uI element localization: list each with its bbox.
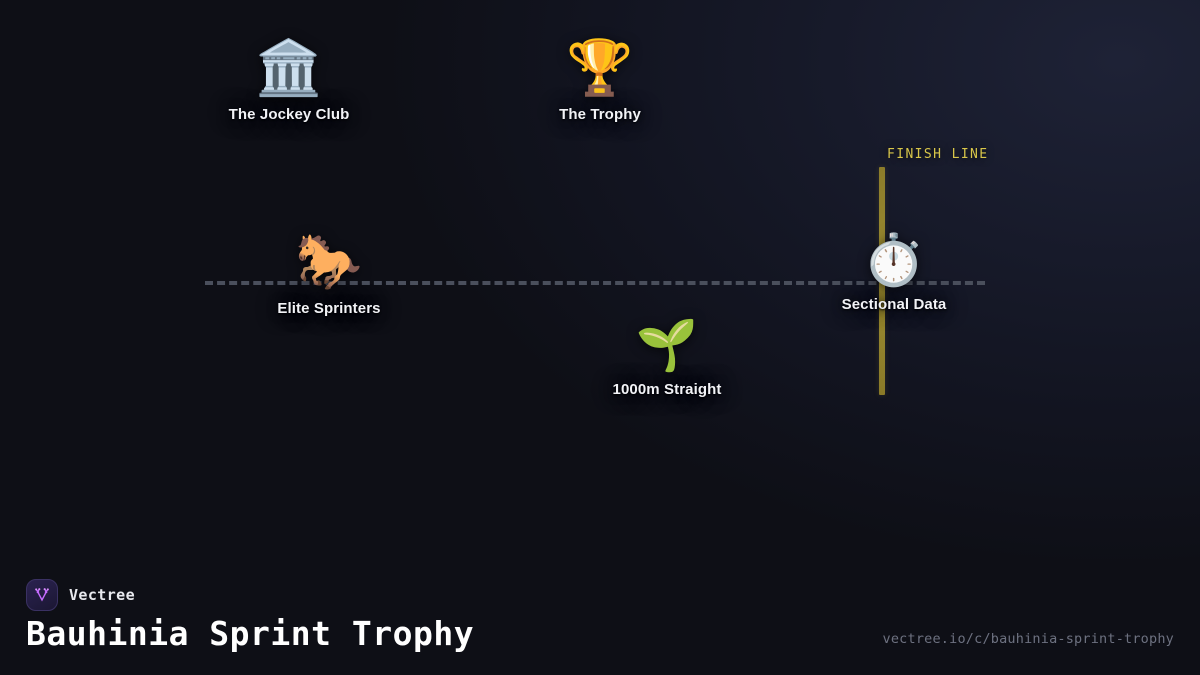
footer-bar: Vectree Bauhinia Sprint Trophy vectree.i… — [0, 563, 1200, 675]
classical-building-icon: 🏛️ — [255, 38, 322, 98]
node-the-jockey-club[interactable]: 🏛️The Jockey Club — [229, 38, 350, 123]
finish-line-label: FINISH LINE — [887, 147, 989, 162]
node-1000m-straight[interactable]: 🌱1000m Straight — [613, 317, 722, 398]
node-elite-sprinters[interactable]: 🐎Elite Sprinters — [277, 232, 380, 317]
seedling-icon: 🌱 — [636, 317, 698, 373]
brand-row[interactable]: Vectree — [26, 579, 135, 611]
trophy-icon: 🏆 — [566, 38, 633, 98]
page-title: Bauhinia Sprint Trophy — [26, 614, 474, 653]
node-label: The Jockey Club — [229, 106, 350, 123]
racehorse-icon: 🐎 — [295, 232, 362, 292]
vectree-logo-icon — [26, 579, 58, 611]
screenshot-root: FINISH LINE 🏛️The Jockey Club🏆The Trophy… — [0, 0, 1200, 675]
node-label: Sectional Data — [842, 296, 947, 313]
brand-name: Vectree — [69, 586, 135, 604]
node-label: The Trophy — [559, 106, 641, 123]
node-the-trophy[interactable]: 🏆The Trophy — [559, 38, 641, 123]
node-label: 1000m Straight — [613, 381, 722, 398]
node-label: Elite Sprinters — [277, 300, 380, 317]
stopwatch-icon: ⏱️ — [863, 232, 925, 288]
node-sectional-data[interactable]: ⏱️Sectional Data — [842, 232, 947, 313]
page-url: vectree.io/c/bauhinia-sprint-trophy — [883, 631, 1174, 647]
